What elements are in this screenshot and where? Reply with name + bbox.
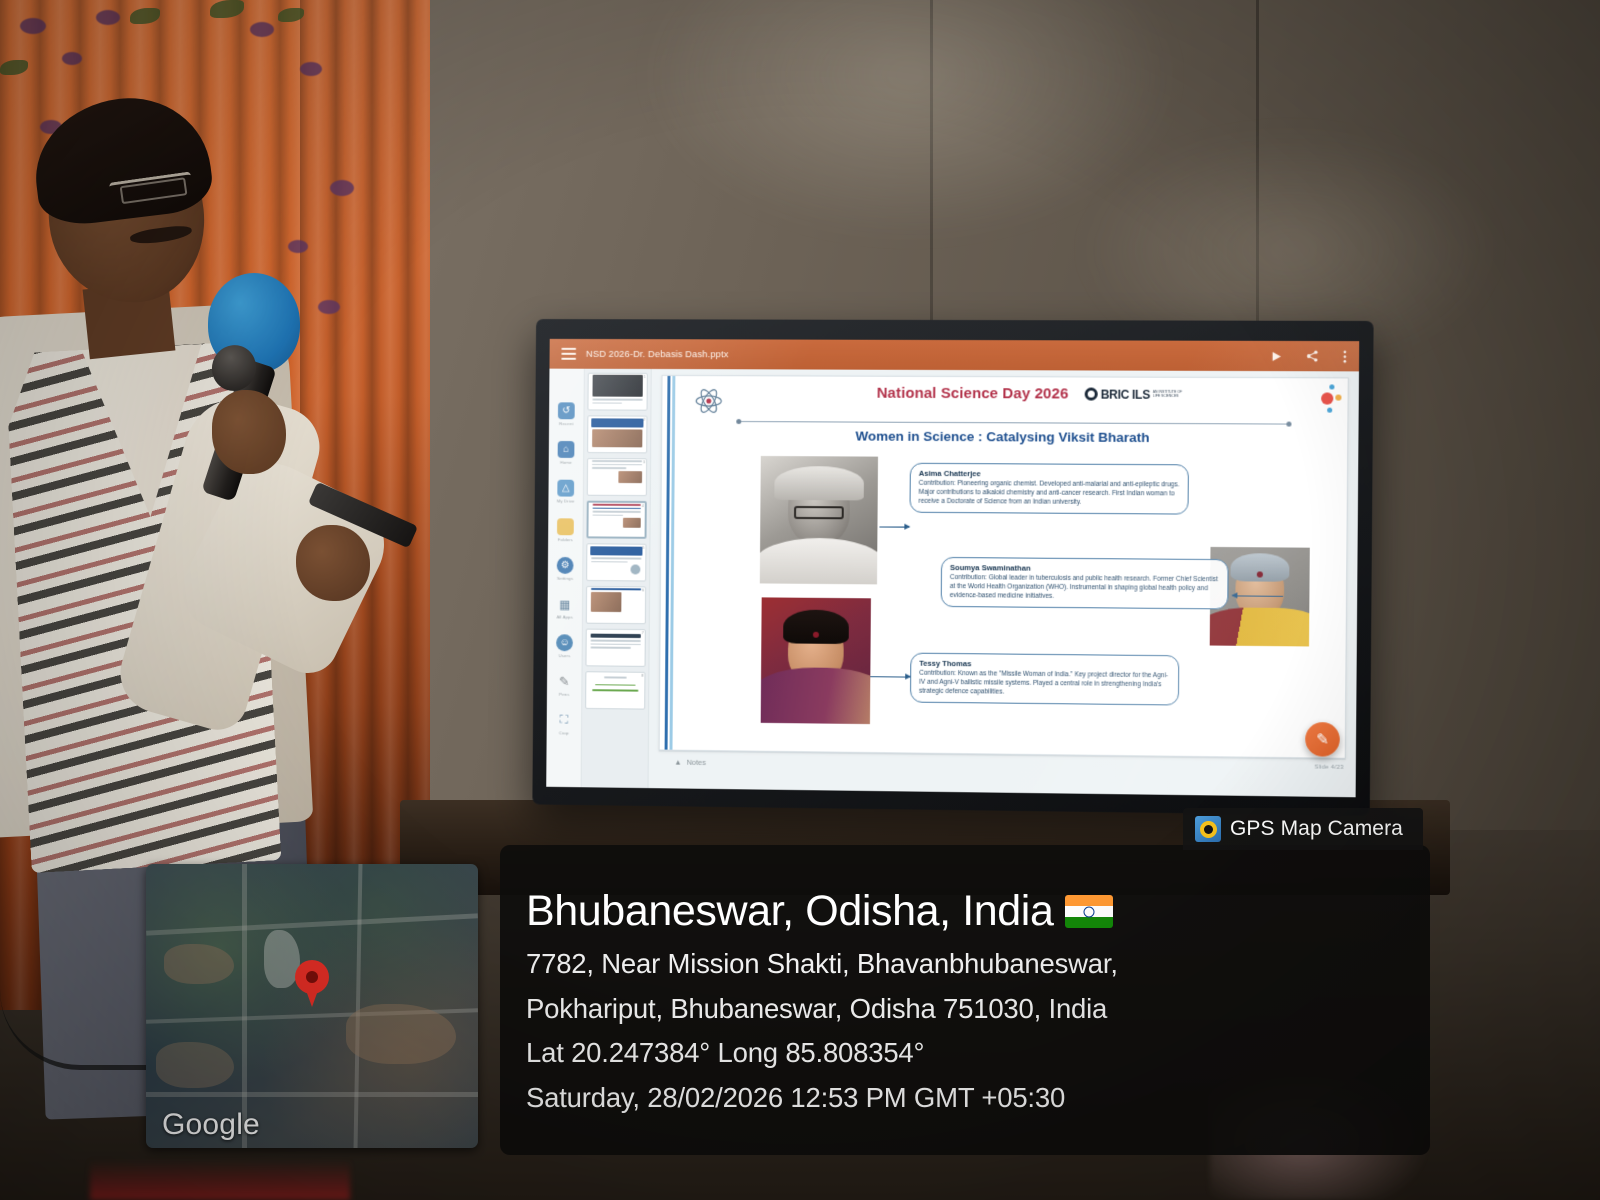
rail-item-home[interactable]: ⌂ Home xyxy=(558,441,575,465)
thumbnail-number: 4 xyxy=(642,503,644,508)
slide-canvas-area: National Science Day 2026 BRIC ILS AN IN… xyxy=(649,369,1359,797)
slide-thumbnail[interactable]: 3 xyxy=(587,458,647,496)
thumb-image xyxy=(592,429,642,447)
gps-city-text: Bhubaneswar, Odisha, India xyxy=(526,887,1053,936)
user-icon: ☺ xyxy=(556,634,573,651)
rail-label: Home xyxy=(560,460,572,465)
gps-map-camera-icon xyxy=(1195,816,1221,842)
capture-icon: ⛶ xyxy=(556,712,573,729)
rail-label: Users xyxy=(559,653,571,658)
person-name: Asima Chatterjee xyxy=(919,469,1181,480)
india-flag-icon xyxy=(1065,895,1113,928)
gps-address-line-2: Pokhariput, Bhubaneswar, Odisha 751030, … xyxy=(526,987,1430,1032)
header-divider xyxy=(739,421,1288,425)
drive-icon: △ xyxy=(557,480,574,497)
slide-subtitle: Women in Science : Catalysing Viksit Bha… xyxy=(662,428,1347,446)
document-title: NSD 2026-Dr. Debasis Dash.pptx xyxy=(586,348,729,359)
clock-icon: ↺ xyxy=(558,402,575,419)
person-contribution: Contribution: Global leader in tuberculo… xyxy=(950,574,1221,603)
rail-label: Folders xyxy=(558,537,573,542)
notes-label: Notes xyxy=(687,758,706,767)
person-contribution: Contribution: Pioneering organic chemist… xyxy=(919,480,1181,508)
bric-ring-icon xyxy=(1085,388,1098,401)
share-icon[interactable] xyxy=(1306,350,1318,362)
presenter-hand-mic xyxy=(212,390,286,474)
ils-wordmark: ILS xyxy=(1132,387,1150,401)
grid-icon: ▦ xyxy=(556,596,573,613)
thumbnail-number: 7 xyxy=(642,630,644,635)
rail-label: Crop xyxy=(559,730,569,735)
slide-thumbnail[interactable]: 6 xyxy=(586,586,646,624)
callout-tessy-thomas: Tessy Thomas Contribution: Known as the … xyxy=(910,653,1179,706)
callout-asima-chatterjee: Asima Chatterjee Contribution: Pioneerin… xyxy=(909,463,1188,515)
slide-thumbnail[interactable]: 2 xyxy=(587,415,647,453)
rail-item-pen[interactable]: ✎ Pens xyxy=(556,673,573,697)
pencil-icon: ✎ xyxy=(1316,730,1329,748)
slide-thumbnail-panel[interactable]: 1 2 3 4 xyxy=(582,369,652,788)
thumbnail-number: 5 xyxy=(642,545,644,550)
garland-flower xyxy=(300,62,322,76)
tessy-thomas-photo xyxy=(761,597,871,724)
chevron-up-icon[interactable]: ▲ xyxy=(674,758,681,767)
callout-soumya-swaminathan: Soumya Swaminathan Contribution: Global … xyxy=(941,557,1229,610)
google-watermark: Google xyxy=(162,1108,260,1142)
gps-coordinates: Lat 20.247384° Long 85.808354° xyxy=(526,1031,1430,1076)
foreground-red-carpet xyxy=(90,1160,350,1200)
person-contribution: Contribution: Known as the "Missile Woma… xyxy=(919,670,1171,699)
gps-city-line: Bhubaneswar, Odisha, India xyxy=(526,887,1430,936)
person-name: Tessy Thomas xyxy=(919,659,1171,671)
slide-counter: Slide 4/23 xyxy=(1314,764,1343,770)
slide-header: National Science Day 2026 BRIC ILS AN IN… xyxy=(732,384,1334,403)
rail-label: Pens xyxy=(559,692,569,697)
more-vertical-icon[interactable] xyxy=(1343,350,1347,363)
display-screen: NSD 2026-Dr. Debasis Dash.pptx xyxy=(546,339,1359,797)
toolbar-spacer xyxy=(738,354,1260,356)
atom-icon xyxy=(692,384,726,418)
gps-info-panel: Bhubaneswar, Odisha, India 7782, Near Mi… xyxy=(500,845,1430,1155)
thumbnail-number: 2 xyxy=(643,417,645,422)
asima-chatterjee-photo xyxy=(760,456,878,584)
thumb-image xyxy=(592,375,642,397)
slide-thumbnail[interactable]: 5 xyxy=(586,543,646,581)
slide-thumbnail[interactable]: 1 xyxy=(587,373,647,411)
editor-workspace: ↺ Recent ⌂ Home △ My Drive Folders xyxy=(546,369,1359,798)
rail-item-recent[interactable]: ↺ Recent xyxy=(558,402,575,426)
map-pin-icon xyxy=(295,960,329,1006)
slide-thumbnail[interactable]: 8 xyxy=(585,671,645,709)
navigation-rail: ↺ Recent ⌂ Home △ My Drive Folders xyxy=(546,369,585,788)
home-icon: ⌂ xyxy=(558,441,575,458)
rail-label: Settings xyxy=(557,576,573,581)
thumbnail-number: 6 xyxy=(642,587,644,592)
gps-badge-label: GPS Map Camera xyxy=(1230,817,1403,841)
bric-wordmark: BRIC xyxy=(1101,387,1129,401)
interactive-flat-panel: NSD 2026-Dr. Debasis Dash.pptx xyxy=(532,319,1373,816)
rail-item-settings[interactable]: ⚙ Settings xyxy=(557,557,574,581)
app-toolbar: NSD 2026-Dr. Debasis Dash.pptx xyxy=(549,339,1359,372)
gps-map-thumbnail[interactable]: Google xyxy=(146,864,478,1148)
rail-label: My Drive xyxy=(557,498,575,503)
edit-fab-button[interactable]: ✎ xyxy=(1305,722,1340,757)
rail-item-account[interactable]: ☺ Users xyxy=(556,634,573,658)
presenter-hand-pointer xyxy=(296,525,370,601)
bric-logo-subtitle: AN INSTITUTE OF LIFE SCIENCES xyxy=(1153,390,1185,398)
pen-icon: ✎ xyxy=(556,673,573,690)
garland-flower xyxy=(250,22,274,37)
garland-flower xyxy=(96,10,120,25)
connector-arrow xyxy=(879,527,909,528)
bric-ils-logo: BRIC ILS AN INSTITUTE OF LIFE SCIENCES xyxy=(1085,387,1186,401)
folder-icon xyxy=(557,518,574,535)
hamburger-icon[interactable] xyxy=(561,348,576,360)
gear-icon: ⚙ xyxy=(557,557,574,574)
current-slide[interactable]: National Science Day 2026 BRIC ILS AN IN… xyxy=(659,375,1349,759)
slide-title: National Science Day 2026 xyxy=(877,385,1069,403)
gps-map-camera-badge: GPS Map Camera xyxy=(1183,808,1423,850)
connector-arrow xyxy=(870,676,910,677)
gps-timestamp: Saturday, 28/02/2026 12:53 PM GMT +05:30 xyxy=(526,1076,1430,1121)
rail-item-folders[interactable]: Folders xyxy=(557,518,574,542)
play-icon[interactable] xyxy=(1271,350,1282,361)
rail-item-capture[interactable]: ⛶ Crop xyxy=(555,712,572,736)
garland-flower xyxy=(20,18,46,34)
thumbnail-number: 1 xyxy=(644,374,646,379)
rail-item-my-drive[interactable]: △ My Drive xyxy=(557,480,575,504)
garland-flower xyxy=(62,52,82,65)
rail-label: Recent xyxy=(559,421,573,426)
thumbnail-number: 8 xyxy=(641,673,643,678)
slide-thumbnail-active[interactable]: 4 xyxy=(586,501,646,539)
presenter-hair xyxy=(27,89,215,229)
thumbnail-number: 3 xyxy=(643,459,645,464)
rail-item-apps[interactable]: ▦ All Apps xyxy=(556,596,573,620)
decorative-dots xyxy=(1307,384,1342,416)
slide-thumbnail[interactable]: 7 xyxy=(585,629,645,667)
rail-label: All Apps xyxy=(557,614,573,619)
gps-address-line-1: 7782, Near Mission Shakti, Bhavanbhubane… xyxy=(526,942,1430,987)
screenshot-canvas: NSD 2026-Dr. Debasis Dash.pptx xyxy=(0,0,1600,1200)
person-name: Soumya Swaminathan xyxy=(950,563,1221,574)
